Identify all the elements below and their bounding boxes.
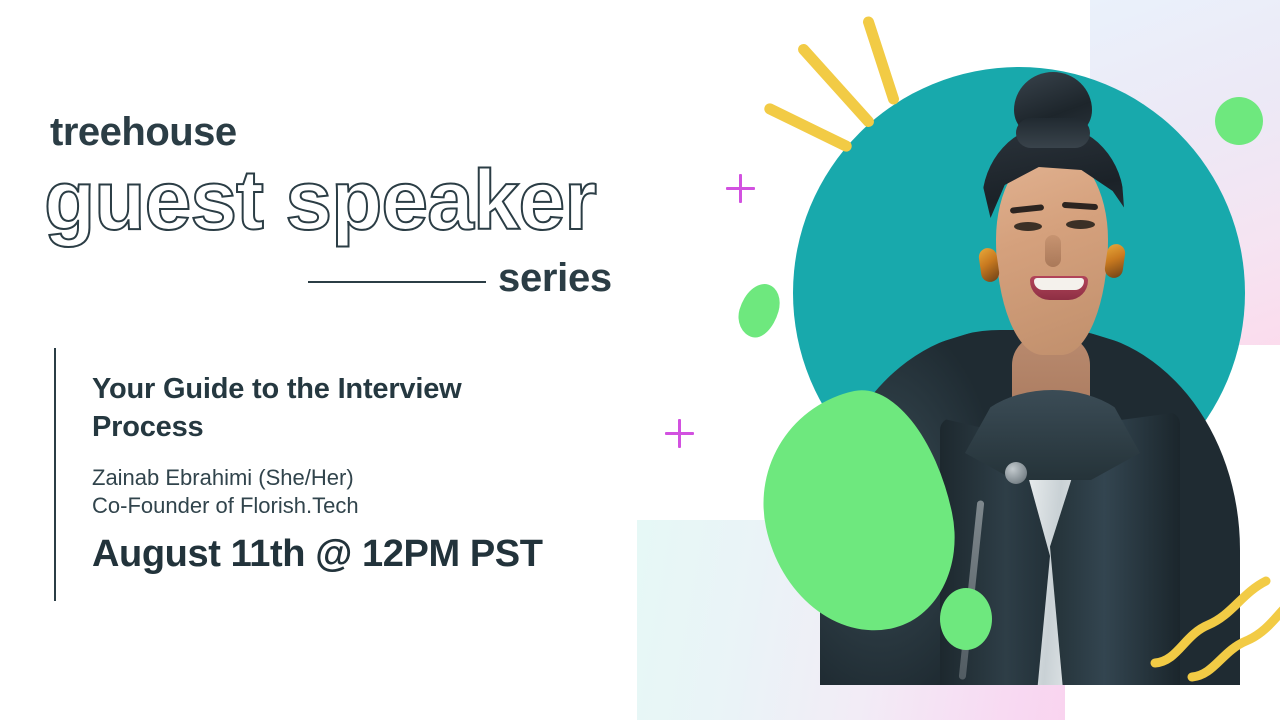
hair-bun-wrap [1016,118,1090,148]
earring-right [1104,243,1127,279]
promo-graphic: treehouse guest speaker series Your Guid… [0,0,1280,720]
green-dot-top-right [1215,97,1263,145]
teeth-shape [1034,278,1084,290]
event-datetime: August 11th @ 12PM PST [92,533,543,576]
series-divider-rule [308,281,486,283]
series-word: series [498,256,612,301]
speaker-role: Co-Founder of Florish.Tech [92,490,359,522]
plus-mark-icon-bottom [665,419,694,448]
event-details-divider-rule [54,348,56,601]
nose-shape [1045,235,1061,267]
brand-wordmark: treehouse [50,110,237,155]
green-blob-small [733,279,785,342]
jacket-snap-button [1005,462,1027,484]
eye-left [1014,222,1042,231]
headline-outline-text: guest speaker [44,158,596,242]
green-dot-bottom [940,588,992,650]
wave-strokes-icon [1150,575,1280,685]
talk-title: Your Guide to the Interview Process [92,370,562,447]
eye-right [1066,220,1095,229]
plus-mark-icon-top [726,174,755,203]
